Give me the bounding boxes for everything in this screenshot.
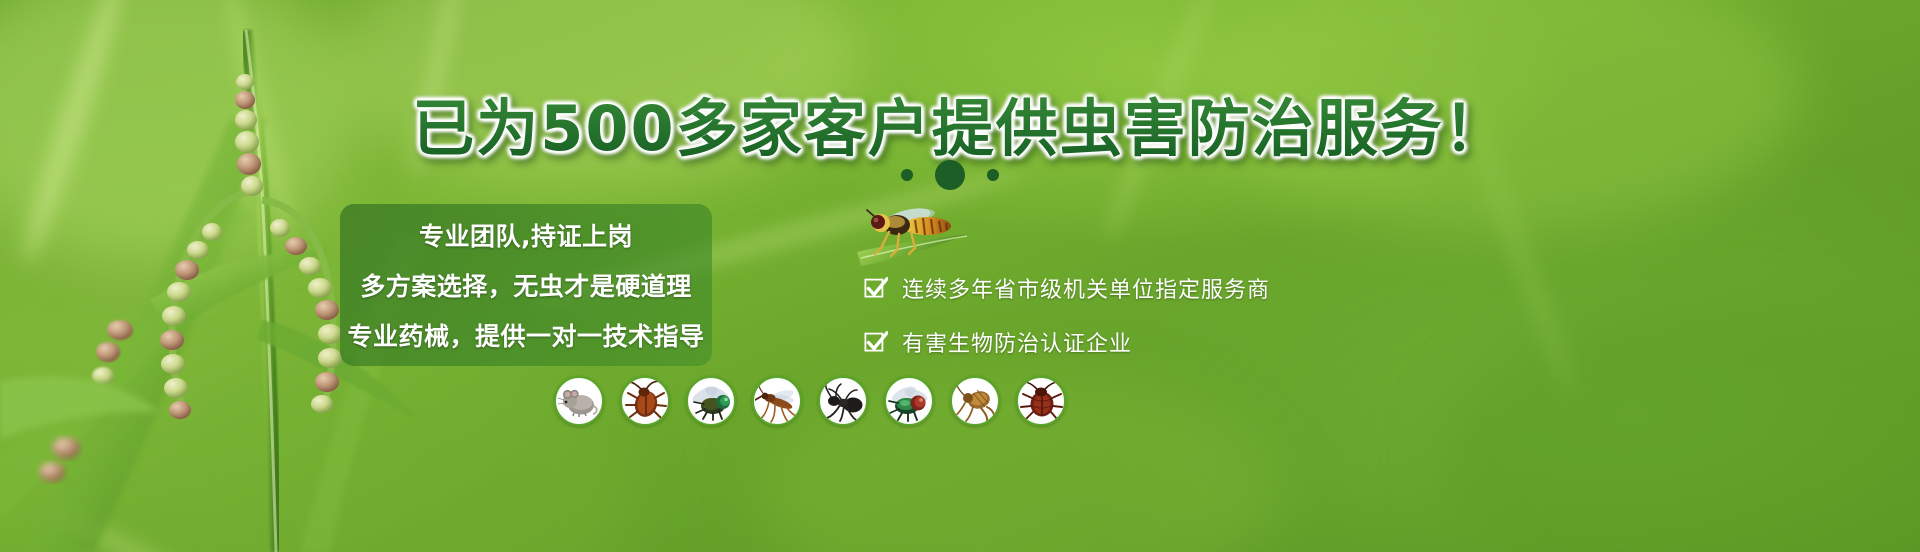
bullet-label: 有害生物防治认证企业 xyxy=(902,326,1132,358)
banner-headline: 已为500多家客户提供虫害防治服务！ xyxy=(412,78,1507,168)
dot-small-left xyxy=(901,169,913,181)
panel-line-3: 专业药械，提供一对一技术指导 xyxy=(348,317,705,353)
pest-circle-flea[interactable] xyxy=(950,376,1000,426)
dot-large-center xyxy=(935,160,965,190)
pest-circle-ant[interactable] xyxy=(818,376,868,426)
pest-circle-cockroach[interactable] xyxy=(620,376,670,426)
panel-line-1: 专业团队,持证上岗 xyxy=(419,217,633,253)
checkbox-checked-icon xyxy=(864,330,888,354)
promo-banner: 已为500多家客户提供虫害防治服务！ 专业团队,持证上岗 多方案选择，无虫才是硬… xyxy=(0,0,1920,552)
decorative-dots xyxy=(0,160,1910,190)
bullet-item: 有害生物防治认证企业 xyxy=(864,326,1270,358)
flea-icon xyxy=(953,379,997,423)
mouse-icon xyxy=(557,379,601,423)
dot-small-right xyxy=(987,169,999,181)
ant-icon xyxy=(821,379,865,423)
feature-text-panel: 专业团队,持证上岗 多方案选择，无虫才是硬道理 专业药械，提供一对一技术指导 xyxy=(340,204,712,366)
pest-icon-row xyxy=(554,376,1066,426)
panel-line-2: 多方案选择，无虫才是硬道理 xyxy=(360,267,692,303)
bullet-label: 连续多年省市级机关单位指定服务商 xyxy=(902,272,1270,304)
headline-container: 已为500多家客户提供虫害防治服务！ xyxy=(0,78,1920,168)
greenfly-icon xyxy=(887,379,931,423)
pest-circle-bedbug[interactable] xyxy=(1016,376,1066,426)
bullet-item: 连续多年省市级机关单位指定服务商 xyxy=(864,272,1270,304)
mosquito-icon xyxy=(755,379,799,423)
pest-circle-mouse[interactable] xyxy=(554,376,604,426)
hoverfly-on-leaf-icon xyxy=(845,196,975,276)
checkbox-checked-icon xyxy=(864,276,888,300)
pest-circle-mosquito[interactable] xyxy=(752,376,802,426)
cockroach-icon xyxy=(623,379,667,423)
pest-circle-housefly[interactable] xyxy=(686,376,736,426)
housefly-icon xyxy=(689,379,733,423)
bedbug-icon xyxy=(1019,379,1063,423)
pest-circle-greenfly[interactable] xyxy=(884,376,934,426)
certification-bullet-list: 连续多年省市级机关单位指定服务商 有害生物防治认证企业 xyxy=(864,272,1270,380)
